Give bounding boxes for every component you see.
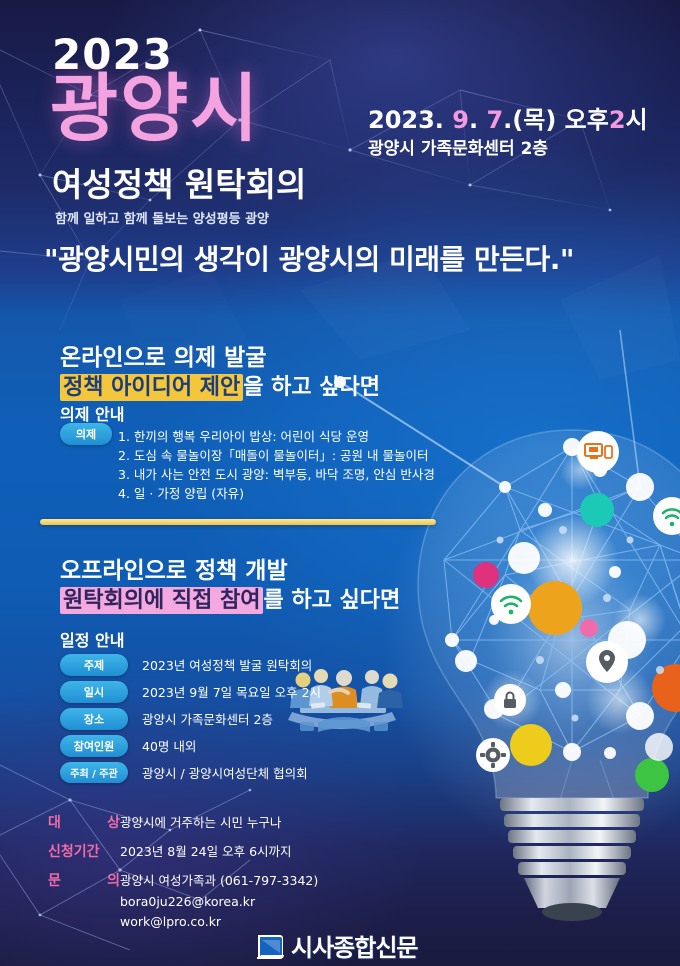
schedule-row: 주최 / 주관 광양시 / 광양시여성단체 협의회 (60, 761, 321, 784)
schedule-label: 장소 (60, 708, 128, 730)
date-day: 7 (486, 106, 503, 134)
contact-email-1: bora0ju226@korea.kr (120, 892, 318, 912)
online-heading-line2: 정책 아이디어 제안을 하고 싶다면 (60, 369, 380, 401)
date-month: 9 (452, 106, 469, 134)
offline-section-label: 일정 안내 (60, 627, 124, 651)
schedule-label: 참여인원 (60, 735, 128, 757)
contact-block: 대 상 광양시에 거주하는 시민 누구나 신청기간 2023년 8월 24일 오… (48, 812, 318, 932)
online-section-label: 의제 안내 (60, 401, 124, 425)
agenda-item: 2. 도심 속 물놀이장「매돌이 물놀이터」: 공원 내 물놀이터 (118, 446, 435, 465)
offline-heading-line2: 원탁회의에 직접 참여를 하고 싶다면 (60, 582, 400, 614)
schedule-value: 40명 내외 (142, 736, 196, 755)
node-pink-small (580, 619, 598, 637)
online-highlight: 정책 아이디어 제안 (60, 374, 243, 401)
schedule-label: 주제 (60, 654, 128, 676)
contact-label-b: 상 (107, 812, 120, 832)
section-divider (40, 519, 436, 525)
location-pin-icon (586, 641, 628, 683)
schedule-row: 일시 2023년 9월 7일 목요일 오후 2시 (60, 680, 321, 703)
header-city-title: 광양시 (50, 72, 260, 146)
schedule-row: 참여인원 40명 내외 (60, 734, 321, 757)
node-teal (580, 493, 614, 527)
online-heading-line1: 온라인으로 의제 발굴 (60, 338, 266, 372)
agenda-item: 1. 한끼의 행복 우리아이 밥상: 어린이 식당 운영 (118, 427, 435, 446)
node-green (635, 758, 669, 792)
header-tagline: 함께 일하고 함께 돌보는 양성평등 광양 (55, 208, 269, 227)
poster-root: 2023 광양시 여성정책 원탁회의 함께 일하고 함께 돌보는 양성평등 광양… (0, 0, 680, 966)
event-date: 2023. 9. 7.(목) 오후2시 (368, 100, 648, 135)
event-place: 광양시 가족문화센터 2층 (368, 134, 548, 159)
contact-label: 대 상 (48, 812, 120, 832)
wifi-icon (491, 584, 531, 624)
offline-heading-rest: 를 하고 싶다면 (263, 588, 400, 613)
schedule-value: 2023년 여성정책 발굴 원탁회의 (142, 655, 312, 674)
date-suffix: 시 (626, 106, 648, 134)
poster-header: 2023 광양시 여성정책 원탁회의 함께 일하고 함께 돌보는 양성평등 광양… (0, 0, 680, 300)
contact-value: 광양시에 거주하는 시민 누구나 (120, 812, 281, 831)
date-middle: .(목) 오후 (503, 106, 609, 134)
bulb-base (500, 798, 644, 921)
schedule-row: 장소 광양시 가족문화센터 2층 (60, 707, 321, 730)
node-yellow (510, 724, 552, 766)
contact-label-a: 대 (48, 812, 61, 832)
agenda-list: 1. 한끼의 행복 우리아이 밥상: 어린이 식당 운영 2. 도심 속 물놀이… (118, 427, 435, 503)
schedule-table: 주제 2023년 여성정책 발굴 원탁회의 일시 2023년 9월 7일 목요일… (60, 653, 321, 788)
contact-row: 신청기간 2023년 8월 24일 오후 6시까지 (48, 841, 318, 861)
date-dot: . (469, 106, 486, 134)
agenda-badge: 의제 (60, 423, 112, 445)
lightbulb-graphic (334, 330, 680, 921)
monitor-icon (577, 431, 619, 473)
header-subtitle: 여성정책 원탁회의 (52, 158, 306, 206)
footer-logo: 시사종합신문 (255, 928, 417, 963)
schedule-value: 광양시 / 광양시여성단체 협의회 (142, 763, 308, 782)
schedule-value: 광양시 가족문화센터 2층 (142, 709, 273, 728)
schedule-value: 2023년 9월 7일 목요일 오후 2시 (142, 682, 321, 701)
newspaper-book-icon (255, 931, 287, 961)
lock-icon (494, 684, 526, 716)
offline-heading-line1: 오프라인으로 정책 개발 (60, 551, 288, 585)
node-orange (528, 581, 582, 635)
contact-label-b: 의 (107, 870, 120, 890)
offline-highlight: 원탁회의에 직접 참여 (60, 587, 263, 614)
contact-label-a: 문 (48, 870, 61, 890)
gear-icon (476, 738, 510, 772)
contact-row: 문 의 광양시 여성가족과 (061-797-3342) (48, 870, 318, 890)
schedule-label: 주최 / 주관 (60, 762, 128, 783)
contact-label: 문 의 (48, 870, 120, 890)
schedule-label: 일시 (60, 681, 128, 703)
date-prefix: 2023. (368, 106, 452, 134)
footer-logo-text: 시사종합신문 (291, 928, 417, 963)
online-heading-rest: 을 하고 싶다면 (243, 375, 380, 400)
agenda-badge-wrap: 의제 (60, 423, 112, 445)
agenda-item: 3. 내가 사는 안전 도시 광양: 벽부등, 바닥 조명, 안심 반사경 (118, 465, 435, 484)
agenda-item: 4. 일 · 가정 양립 (자유) (118, 484, 435, 503)
node-magenta (473, 562, 499, 588)
contact-label: 신청기간 (48, 841, 120, 861)
contact-value: 2023년 8월 24일 오후 6시까지 (120, 841, 292, 860)
schedule-row: 주제 2023년 여성정책 발굴 원탁회의 (60, 653, 321, 676)
header-quote: "광양시민의 생각이 광양시의 미래를 만든다." (44, 238, 574, 278)
contact-value: 광양시 여성가족과 (061-797-3342) (120, 870, 318, 889)
contact-row: 대 상 광양시에 거주하는 시민 누구나 (48, 812, 318, 832)
date-hour: 2 (609, 106, 626, 134)
